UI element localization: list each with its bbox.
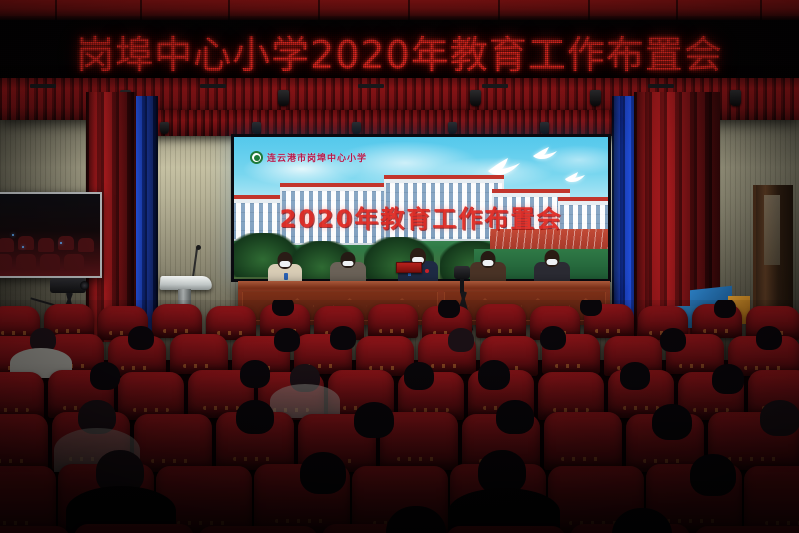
audience-head	[496, 400, 534, 434]
seat	[118, 372, 184, 420]
seat	[152, 304, 202, 338]
lectern	[160, 276, 213, 290]
audience-head	[330, 326, 356, 350]
audience-head	[690, 454, 736, 496]
stage-light	[252, 122, 261, 134]
led-banner: 岗埠中心小学2020年教育工作布置会	[0, 20, 799, 82]
stage-light	[278, 90, 289, 106]
stage-light	[540, 122, 549, 134]
audience-head	[660, 328, 686, 352]
audience-head	[712, 364, 744, 394]
audience-head	[274, 328, 300, 352]
stage-light	[590, 90, 601, 106]
seat	[74, 524, 194, 533]
seat	[694, 526, 799, 533]
light-bar	[30, 84, 56, 88]
audience-head	[620, 362, 650, 390]
light-bar	[648, 84, 674, 88]
school-emblem-icon	[250, 151, 263, 164]
seat	[134, 414, 212, 472]
audience-head	[300, 452, 346, 494]
dove-icon	[486, 155, 522, 177]
led-banner-text: 岗埠中心小学2020年教育工作布置会	[76, 24, 723, 79]
stage-light	[730, 90, 741, 106]
audience-head	[438, 300, 460, 318]
seat	[744, 466, 799, 533]
dove-icon	[532, 145, 558, 161]
light-bar	[200, 84, 226, 88]
seat	[0, 526, 70, 533]
audience-head	[240, 360, 270, 388]
audience-head	[448, 328, 474, 352]
light-bar	[358, 84, 384, 88]
face-mask-icon	[343, 261, 354, 266]
camera-lens-icon	[80, 281, 89, 290]
face-mask-icon	[280, 261, 291, 267]
stage-light	[160, 122, 169, 134]
stage-light	[448, 122, 457, 134]
face-mask-icon	[547, 259, 558, 265]
audience-head	[760, 400, 799, 436]
curtain-valance-lower	[115, 110, 685, 136]
head-table-person	[330, 250, 366, 284]
light-bar	[482, 84, 508, 88]
seat	[446, 526, 566, 533]
stage-light	[352, 122, 361, 134]
audience-head	[714, 300, 736, 318]
audience-head	[354, 402, 394, 438]
seat	[544, 412, 622, 470]
seat	[170, 334, 228, 374]
audience-head	[236, 400, 274, 434]
audience-seating	[0, 300, 799, 533]
audience-head	[540, 326, 566, 350]
dove-icon	[564, 171, 586, 183]
seat	[0, 466, 56, 533]
monitor-display	[0, 192, 102, 278]
school-logo-text: 连云港市岗埠中心小学	[267, 151, 367, 164]
seat	[368, 304, 418, 338]
head-table-person	[268, 252, 302, 284]
audience-head	[90, 362, 120, 390]
seat	[0, 372, 44, 420]
tripod-icon	[454, 266, 470, 279]
audience-head	[128, 326, 154, 350]
seat	[0, 414, 48, 472]
table-nameplate	[396, 262, 422, 273]
audience-head	[756, 326, 782, 350]
audience-head	[404, 362, 434, 390]
monitor-screen	[0, 194, 100, 276]
audience-head	[272, 300, 294, 316]
audience-head	[580, 300, 602, 316]
auditorium-scene: 岗埠中心小学2020年教育工作布置会	[0, 0, 799, 533]
audience-head	[652, 404, 692, 440]
seat	[476, 304, 526, 338]
stage-light	[470, 90, 481, 106]
projection-title-text: 2020年教育工作布置会	[234, 199, 608, 234]
audience-head	[478, 360, 510, 390]
seat	[198, 526, 318, 533]
school-logo: 连云港市岗埠中心小学	[250, 151, 367, 164]
microphone-head-icon	[196, 245, 201, 250]
head-table-person	[534, 250, 570, 284]
